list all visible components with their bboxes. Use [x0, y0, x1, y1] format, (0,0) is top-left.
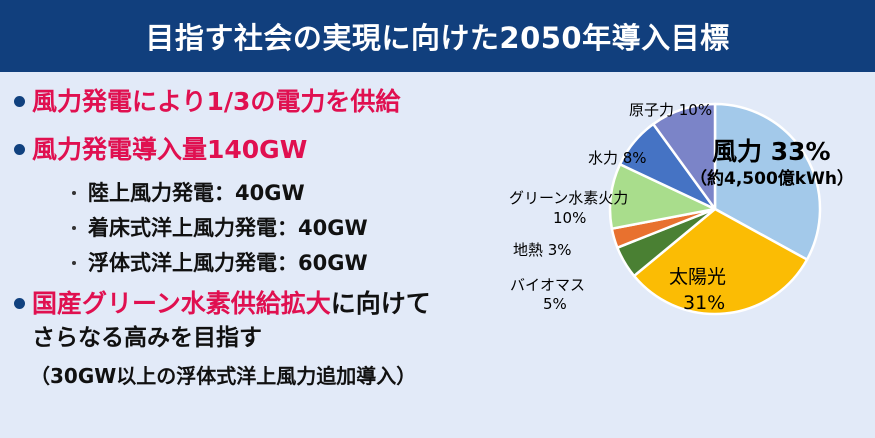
- page-title: 目指す社会の実現に向けた2050年導入目標: [145, 15, 729, 57]
- pie-label-wind-sub: （約4,500億kWh）: [690, 170, 854, 189]
- bullet-dot-icon: [14, 288, 32, 319]
- pie-label-solar-value: 31%: [683, 293, 725, 314]
- list-item-wind-one-third: 風力発電により1/3の電力を供給: [14, 86, 400, 117]
- list-item-hydrogen: 国産グリーン水素供給拡大に向けて: [14, 288, 431, 319]
- hydrogen-black-text: に向けて: [331, 289, 431, 318]
- pie-label-geothermal: 地熱 3%: [513, 242, 572, 259]
- list-item-wind-capacity: 風力発電導入量140GW: [14, 134, 307, 165]
- energy-mix-pie-chart: 風力 33% （約4,500億kWh） 太陽光 31% バイオマス 5% 地熱 …: [500, 72, 875, 438]
- bullet-text: 風力発電により1/3の電力を供給: [32, 86, 400, 117]
- sub-item-label: 陸上風力発電：40GW: [88, 180, 305, 206]
- pie-label-hydro: 水力 8%: [588, 150, 647, 167]
- sub-bullet-dot-icon: [72, 261, 76, 265]
- list-item-floating-offshore: 浮体式洋上風力発電：60GW: [72, 250, 368, 276]
- bullet-list: 風力発電により1/3の電力を供給 風力発電導入量140GW 陸上風力発電：40G…: [0, 72, 540, 438]
- sub-item-label: 着床式洋上風力発電：40GW: [88, 215, 368, 241]
- sub-bullet-dot-icon: [72, 191, 76, 195]
- pie-label-biomass-value: 5%: [543, 296, 567, 313]
- pie-label-green-hydrogen-value: 10%: [553, 210, 586, 227]
- hydrogen-note: （30GW以上の浮体式洋上風力追加導入）: [30, 364, 416, 389]
- sub-bullet-dot-icon: [72, 226, 76, 230]
- header-bar: 目指す社会の実現に向けた2050年導入目標: [0, 0, 875, 72]
- bullet-text: 風力発電導入量140GW: [32, 134, 307, 165]
- pie-label-solar: 太陽光: [669, 267, 726, 288]
- pie-label-nuclear: 原子力 10%: [629, 102, 712, 119]
- pie-label-green-hydrogen: グリーン水素火力: [509, 190, 628, 207]
- hydrogen-red-text: 国産グリーン水素供給拡大: [32, 289, 331, 318]
- hydrogen-line-two: さらなる高みを目指す: [32, 324, 262, 352]
- bullet-dot-icon: [14, 86, 32, 117]
- list-item-onshore: 陸上風力発電：40GW: [72, 180, 305, 206]
- pie-label-wind: 風力 33%: [712, 138, 831, 166]
- sub-item-label: 浮体式洋上風力発電：60GW: [88, 250, 368, 276]
- pie-label-biomass: バイオマス: [510, 277, 585, 294]
- list-item-fixed-offshore: 着床式洋上風力発電：40GW: [72, 215, 368, 241]
- bullet-dot-icon: [14, 134, 32, 165]
- hydrogen-bullet-text: 国産グリーン水素供給拡大に向けて: [32, 288, 431, 319]
